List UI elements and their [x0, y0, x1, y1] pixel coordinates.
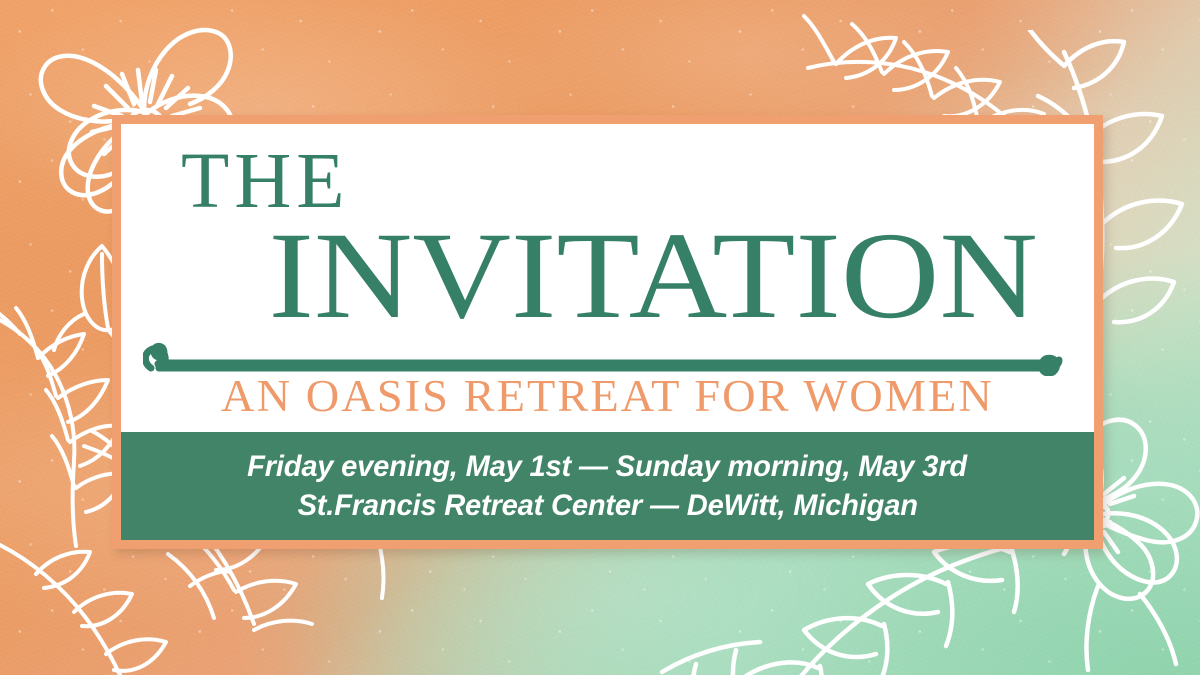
- poster-canvas: THE INVITATION AN OASIS RETREAT FOR WOME…: [0, 0, 1200, 675]
- decorative-swash-rule: [143, 334, 1073, 376]
- event-details-bar: Friday evening, May 1st — Sunday morning…: [121, 432, 1094, 540]
- leaf-sprig-icon: [0, 534, 230, 675]
- subtitle-text: AN OASIS RETREAT FOR WOMEN: [106, 374, 1108, 419]
- card-body: THE INVITATION AN OASIS RETREAT FOR WOME…: [121, 124, 1094, 540]
- event-location: St.Francis Retreat Center — DeWitt, Mich…: [297, 488, 917, 523]
- title-line-invitation: INVITATION: [145, 219, 1161, 333]
- event-dates: Friday evening, May 1st — Sunday morning…: [248, 449, 968, 484]
- invitation-card: THE INVITATION AN OASIS RETREAT FOR WOME…: [112, 115, 1103, 549]
